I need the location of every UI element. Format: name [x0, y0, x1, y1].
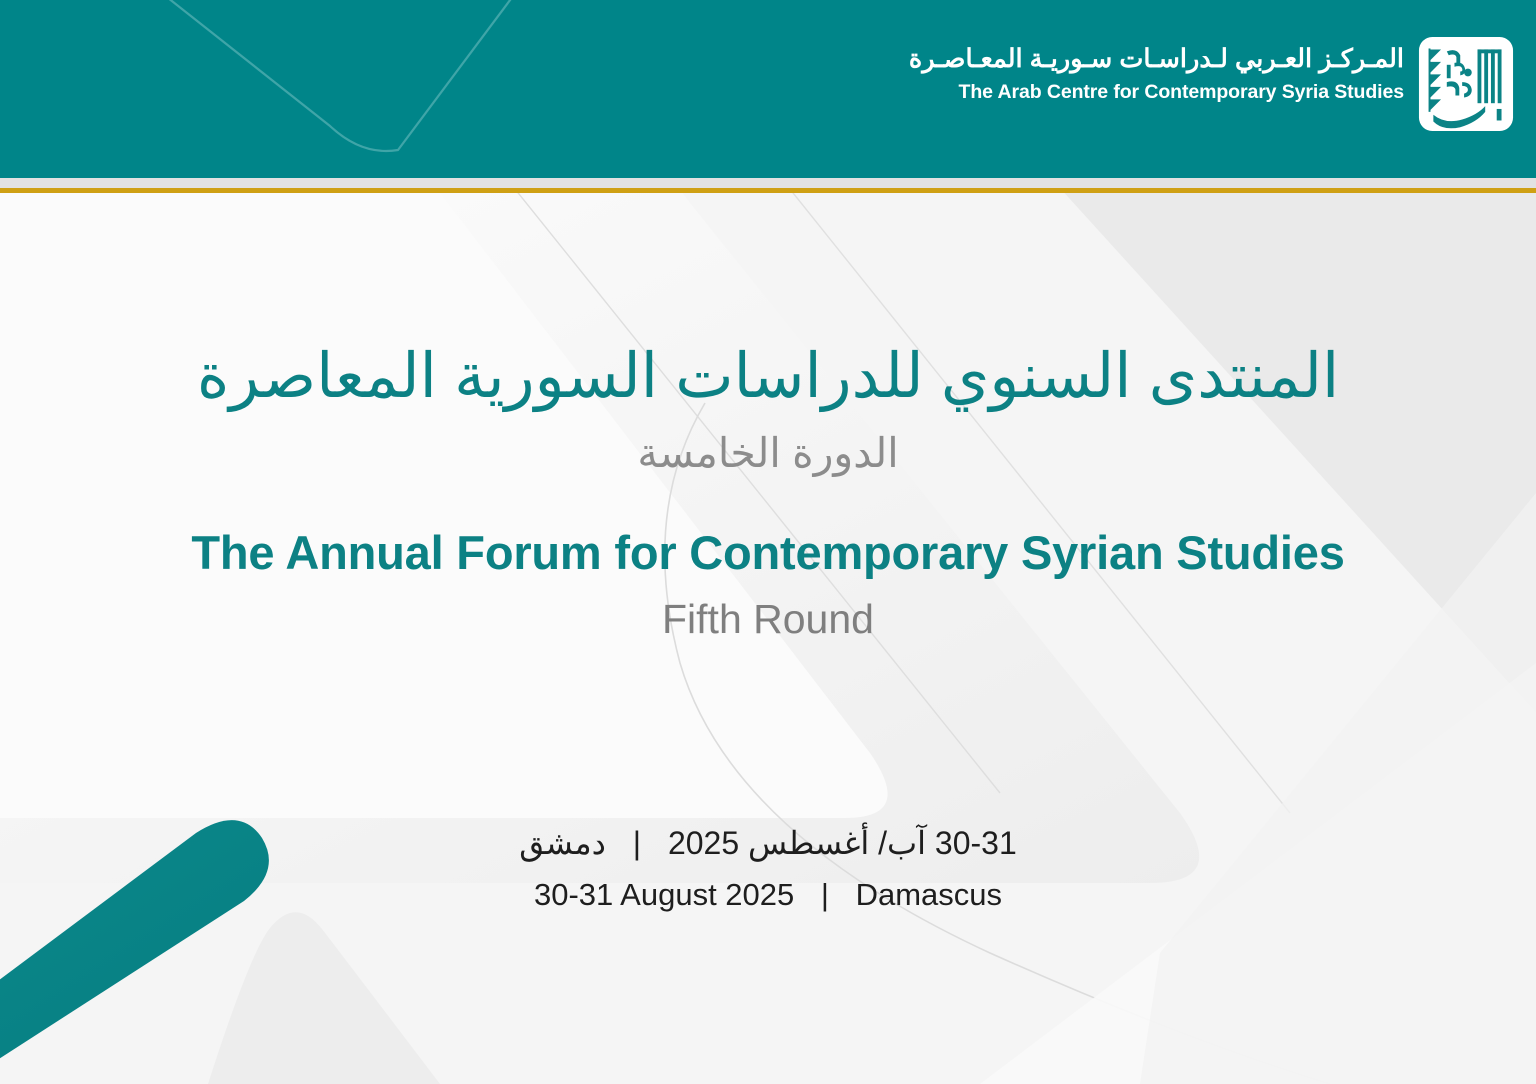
event-meta-arabic: 30-31 آب/ أغسطس 2025 | دمشق	[0, 825, 1536, 862]
event-date-arabic: 30-31 آب/ أغسطس 2025	[668, 825, 1017, 861]
header-banner: المـركـز العـربي لـدراسـات سـوريـة المعـ…	[0, 0, 1536, 178]
content-text-block: المنتدى السنوي للدراسات السورية المعاصرة…	[0, 193, 1536, 1084]
page-subtitle-arabic: الدورة الخامسة	[0, 431, 1536, 476]
meta-separator-arabic: |	[615, 825, 659, 862]
brand-lockup: المـركـز العـربي لـدراسـات سـوريـة المعـ…	[909, 36, 1514, 132]
page-title-english: The Annual Forum for Contemporary Syrian…	[0, 527, 1536, 579]
page-subtitle-english: Fifth Round	[0, 597, 1536, 642]
brand-text-block: المـركـز العـربي لـدراسـات سـوريـة المعـ…	[909, 36, 1404, 105]
event-meta-english: 30-31 August 2025 | Damascus	[0, 877, 1536, 913]
brand-name-english: The Arab Centre for Contemporary Syria S…	[959, 79, 1404, 105]
event-city-english: Damascus	[856, 877, 1002, 912]
poster-canvas: المـركـز العـربي لـدراسـات سـوريـة المعـ…	[0, 0, 1536, 1084]
event-date-english: 30-31 August 2025	[534, 877, 794, 912]
arab-centre-calligraphy-logo-icon	[1418, 36, 1514, 132]
event-city-arabic: دمشق	[519, 825, 606, 861]
header-divider-gap	[0, 178, 1536, 188]
brand-name-arabic: المـركـز العـربي لـدراسـات سـوريـة المعـ…	[909, 42, 1404, 76]
page-title-arabic: المنتدى السنوي للدراسات السورية المعاصرة	[0, 344, 1536, 411]
meta-separator-english: |	[803, 877, 847, 913]
